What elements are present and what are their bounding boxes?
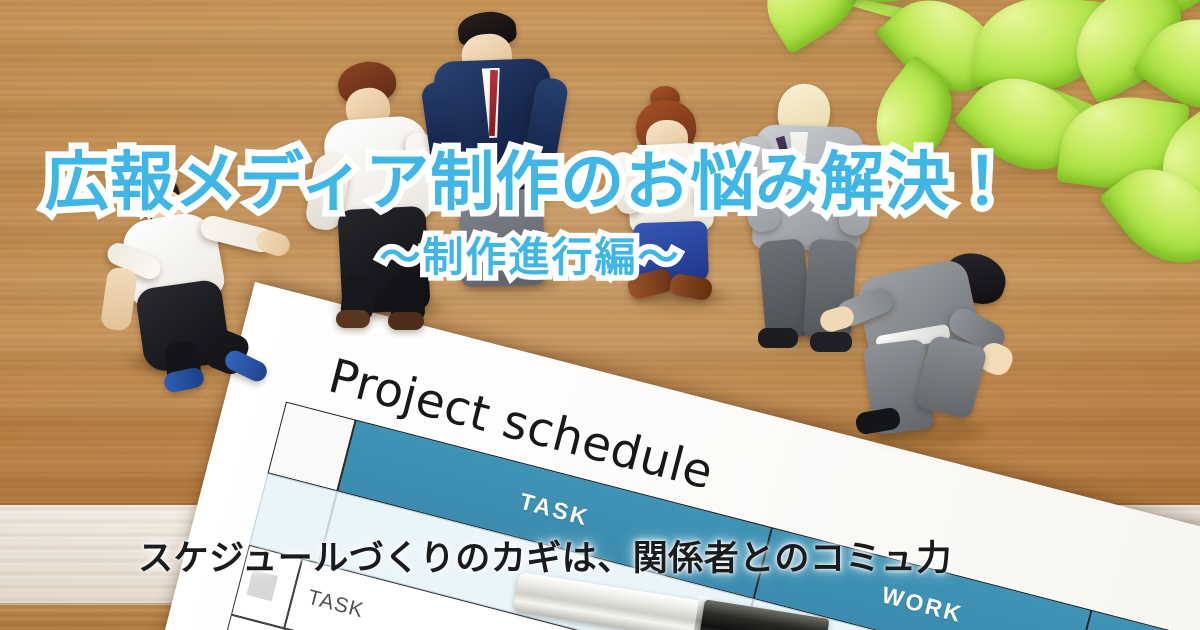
- figure-woman-bun-hair: [616, 86, 756, 316]
- tagline: スケジュールづくりのカギは、関係者とのコミュ力: [0, 530, 1090, 581]
- figure-man-grey-bending: [838, 252, 1028, 448]
- banner-image: Project schedule TASK WORK April TASK WO…: [0, 0, 1200, 630]
- figure-woman-white-shirt: [104, 172, 294, 382]
- figure-man-navy-suit: [434, 12, 594, 302]
